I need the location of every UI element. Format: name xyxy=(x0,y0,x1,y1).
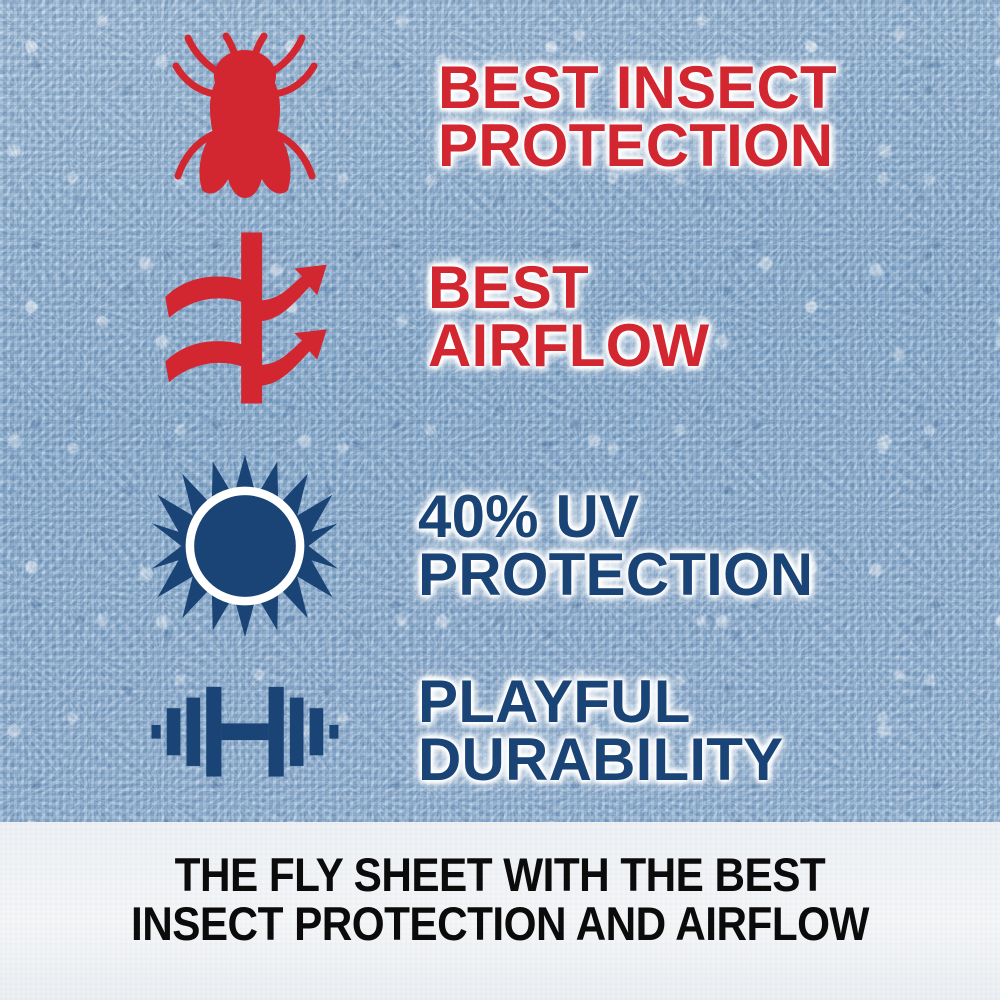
infographic-root: BEST INSECT PROTECTION BEST AIRFLOW xyxy=(0,0,1000,1000)
feature-label-uv-protection: 40% UV PROTECTION xyxy=(418,488,813,603)
caption-band: THE FLY SHEET WITH THE BEST INSECT PROTE… xyxy=(0,822,1000,1000)
sun-icon xyxy=(150,446,340,646)
feature-label-airflow: BEST AIRFLOW xyxy=(428,259,709,374)
feature-label-insect-protection: BEST INSECT PROTECTION xyxy=(438,59,837,174)
feature-label-durability: PLAYFUL DURABILITY xyxy=(418,673,783,788)
feature-row-insect-protection: BEST INSECT PROTECTION xyxy=(150,22,1000,212)
airflow-icon-wrapper xyxy=(150,222,340,412)
feature-row-uv-protection: 40% UV PROTECTION xyxy=(150,438,1000,653)
dumbbell-icon-wrapper xyxy=(150,648,340,813)
airflow-through-barrier-icon xyxy=(150,222,340,412)
caption-text: THE FLY SHEET WITH THE BEST INSECT PROTE… xyxy=(131,850,869,949)
feature-row-airflow: BEST AIRFLOW xyxy=(150,222,1000,412)
dumbbell-icon xyxy=(150,661,340,801)
fly-icon-wrapper xyxy=(150,22,340,212)
feature-row-durability: PLAYFUL DURABILITY xyxy=(150,648,1000,813)
sun-icon-wrapper xyxy=(150,438,340,653)
fly-icon xyxy=(150,22,340,212)
